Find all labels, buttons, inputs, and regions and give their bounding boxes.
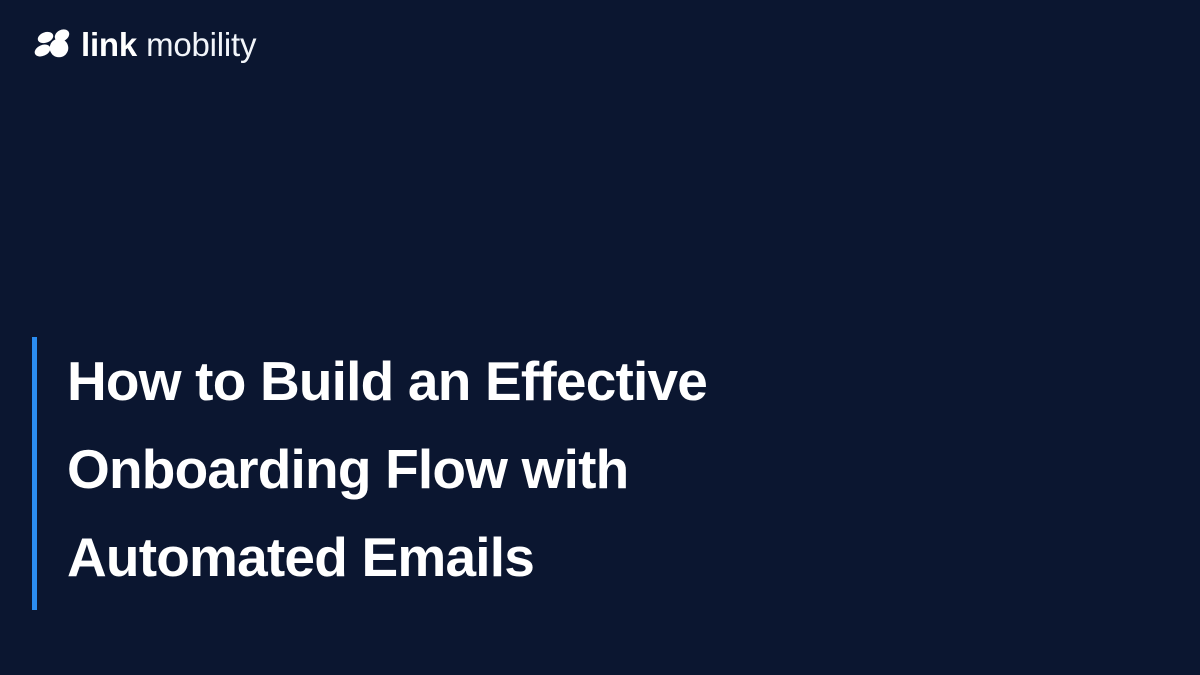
page-title-line-1: How to Build an Effective — [67, 337, 932, 425]
page-title-line-2: Onboarding Flow with — [67, 425, 932, 513]
page-title: How to Build an Effective Onboarding Flo… — [67, 337, 932, 601]
wordmark-mobility: mobility — [146, 28, 256, 61]
brand-wordmark: link mobility — [81, 28, 256, 61]
wordmark-link: link — [81, 28, 137, 61]
page-title-line-3: Automated Emails — [67, 513, 932, 601]
hero-title-block: How to Build an Effective Onboarding Flo… — [32, 337, 932, 601]
link-mobility-blobs-icon — [33, 28, 71, 60]
accent-bar — [32, 337, 37, 610]
slide-canvas: link mobility How to Build an Effective … — [0, 0, 1200, 675]
brand-logo[interactable]: link mobility — [33, 22, 256, 66]
